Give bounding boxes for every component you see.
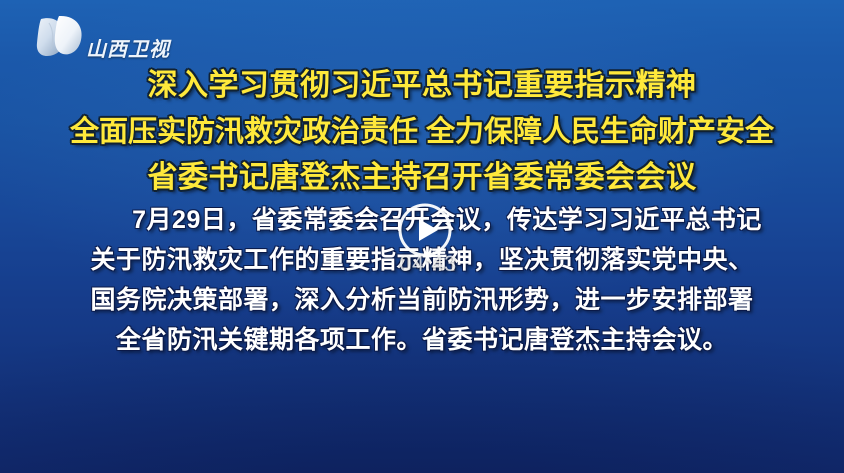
channel-logo-text: 山西卫视 [86,33,170,62]
body-line-4: 全省防汛关键期各项工作。省委书记唐登杰主持会议。 [0,320,844,360]
play-button[interactable] [397,202,453,258]
body-line-3: 国务院决策部署，深入分析当前防汛形势，进一步安排部署 [0,280,844,320]
headline-block: 深入学习贯彻习近平总书记重要指示精神 全面压实防汛救灾政治责任 全力保障人民生命… [0,63,844,201]
headline-line-1: 深入学习贯彻习近平总书记重要指示精神 [0,63,844,109]
headline-line-2: 全面压实防汛救灾政治责任 全力保障人民生命财产安全 [0,109,844,155]
video-thumbnail[interactable]: 山西卫视 深入学习贯彻习近平总书记重要指示精神 全面压实防汛救灾政治责任 全力保… [0,0,844,473]
video-duration: 04:43 [398,251,458,277]
headline-line-3: 省委书记唐登杰主持召开省委常委会会议 [0,155,844,201]
channel-logo: 山西卫视 [34,13,182,61]
